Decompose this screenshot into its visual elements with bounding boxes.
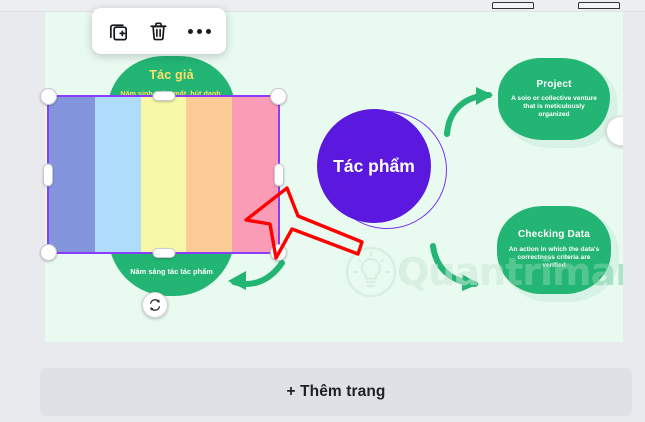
selected-gradient-element[interactable]	[49, 97, 278, 252]
add-page-button[interactable]: + Thêm trang	[40, 368, 632, 416]
resize-handle-top-left[interactable]	[40, 88, 57, 105]
resize-handle-bottom-left[interactable]	[40, 244, 57, 261]
resize-handle-left[interactable]	[43, 163, 53, 186]
checking-body: An action in which the data's correctnes…	[507, 246, 601, 271]
gradient-band-5	[232, 97, 278, 252]
author-title: Tác giả	[149, 68, 193, 82]
gradient-band-4	[186, 97, 232, 252]
gradient-band-2	[95, 97, 141, 252]
more-options-button[interactable]	[184, 15, 216, 47]
lightbulb-icon	[345, 246, 397, 298]
trash-icon	[147, 20, 170, 43]
add-page-label: + Thêm trang	[287, 383, 386, 401]
more-dots-icon	[188, 29, 211, 34]
arrow-left-icon	[224, 257, 286, 297]
rotate-handle[interactable]	[142, 292, 168, 318]
diagram-node-center[interactable]: Tác phẩm	[317, 109, 431, 223]
project-body: A solo or collective venture that is met…	[508, 95, 600, 120]
resize-handle-bottom[interactable]	[152, 248, 175, 258]
rotate-icon	[148, 298, 162, 312]
gradient-band-3	[141, 97, 187, 252]
gradient-band-1	[49, 97, 95, 252]
resize-handle-bottom-right[interactable]	[270, 244, 287, 261]
resize-handle-top-right[interactable]	[270, 88, 287, 105]
duplicate-button[interactable]	[102, 15, 134, 47]
arrow-down-right-icon	[429, 244, 485, 292]
author-year-label: Năm sáng tác tác phẩm	[120, 267, 223, 276]
panel-collapse-handle[interactable]	[606, 116, 623, 146]
editor-root: Tác giả Năm sinh, năm mất, bút danh, quê…	[0, 0, 645, 422]
resize-handle-right[interactable]	[274, 163, 284, 186]
center-node-label: Tác phẩm	[333, 156, 415, 177]
delete-button[interactable]	[143, 15, 175, 47]
resize-handle-top[interactable]	[152, 91, 175, 101]
selected-element-frame[interactable]	[47, 95, 280, 254]
diagram-node-checking[interactable]: Checking Data An action in which the dat…	[497, 206, 611, 294]
checking-title: Checking Data	[518, 229, 590, 241]
duplicate-icon	[107, 20, 130, 43]
arrow-up-right-icon	[443, 86, 499, 138]
element-context-toolbar[interactable]	[92, 8, 226, 54]
project-title: Project	[536, 79, 571, 90]
strip-tab-right[interactable]	[578, 2, 620, 9]
strip-tab-left[interactable]	[492, 2, 534, 9]
diagram-node-project[interactable]: Project A solo or collective venture tha…	[498, 58, 610, 140]
